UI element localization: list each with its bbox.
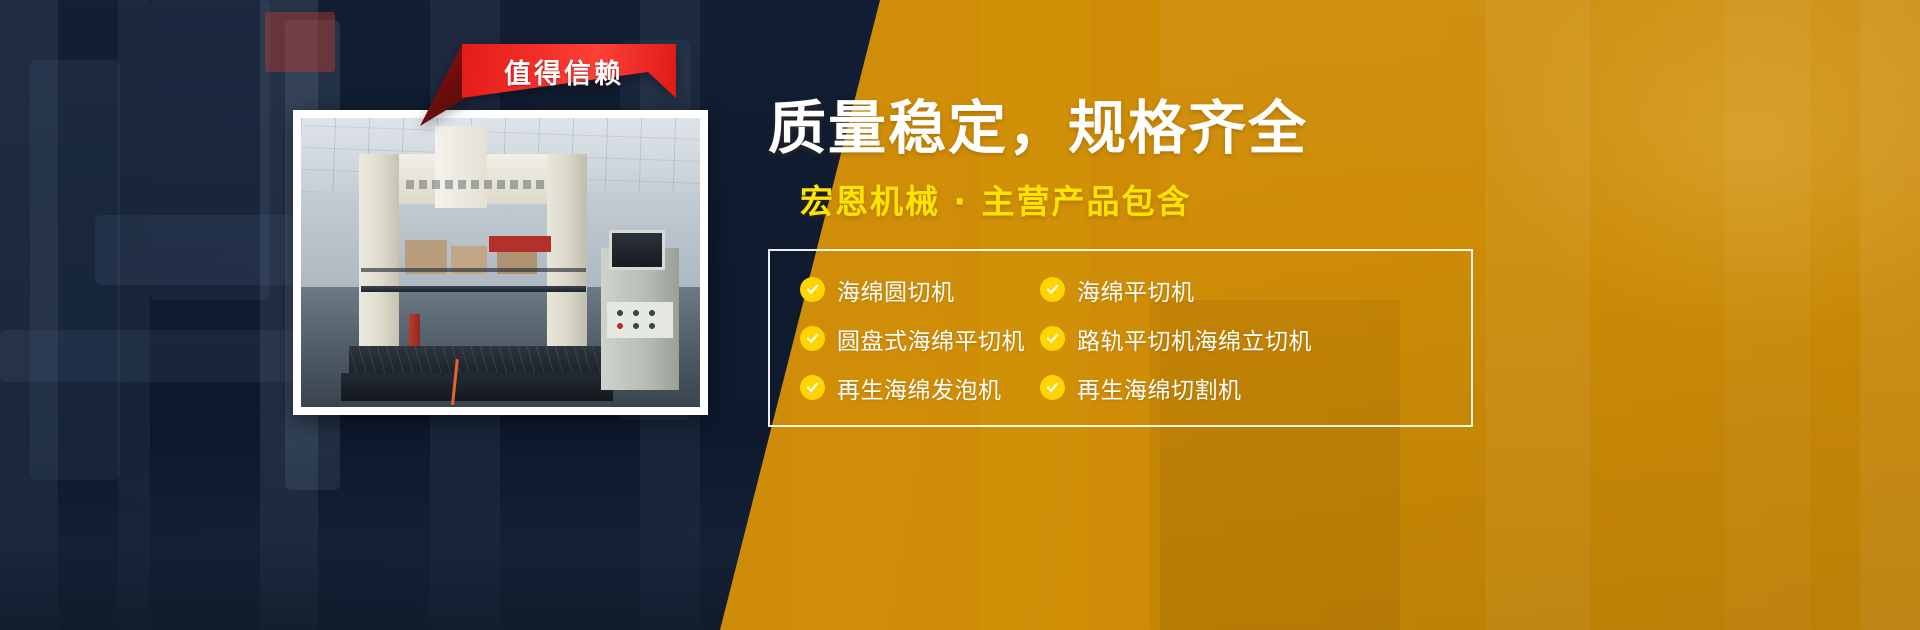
product-label: 路轨平切机海绵立切机 (1077, 322, 1312, 356)
photo-machine-blade (361, 286, 586, 292)
bg-machine-shape (0, 330, 300, 382)
gold-texture-streak (1485, 0, 1590, 630)
banner-subheading: 宏恩机械 · 主营产品包含 (800, 175, 1488, 223)
product-item[interactable]: 海绵圆切机 (800, 273, 1030, 307)
product-label: 再生海绵切割机 (1077, 371, 1242, 405)
check-circle-icon (1040, 326, 1065, 351)
photo-machine-rail (361, 268, 586, 272)
bg-machine-shape (95, 215, 305, 285)
product-item[interactable]: 圆盘式海绵平切机 (800, 322, 1030, 356)
product-label: 再生海绵发泡机 (837, 371, 1002, 405)
product-label: 海绵圆切机 (837, 273, 955, 307)
gold-texture-streak (1725, 0, 1810, 630)
product-item[interactable]: 再生海绵发泡机 (800, 371, 1030, 405)
photo-machine-base (341, 373, 613, 401)
product-label: 圆盘式海绵平切机 (837, 322, 1025, 356)
banner-content: 质量稳定，规格齐全 宏恩机械 · 主营产品包含 海绵圆切机 海绵平切机 (768, 96, 1488, 427)
product-item[interactable]: 路轨平切机海绵立切机 (1040, 322, 1441, 356)
photo-machine-nameplate (406, 180, 546, 189)
product-item[interactable]: 海绵平切机 (1040, 273, 1441, 307)
photo-control-buttons (607, 302, 673, 338)
product-label: 海绵平切机 (1077, 273, 1195, 307)
product-item[interactable]: 再生海绵切割机 (1040, 371, 1441, 405)
ribbon-label: 值得信赖 (462, 44, 676, 98)
photo-machine-post-right (547, 154, 587, 369)
check-circle-icon (800, 326, 825, 351)
product-list-box: 海绵圆切机 海绵平切机 圆盘式海绵平切机 (768, 249, 1473, 427)
photo-control-screen (609, 230, 665, 270)
photo-machine-column (435, 126, 487, 208)
product-list-grid: 海绵圆切机 海绵平切机 圆盘式海绵平切机 (800, 273, 1441, 405)
trust-ribbon: 值得信赖 (462, 44, 676, 98)
check-circle-icon (1040, 277, 1065, 302)
product-photo-card (293, 110, 708, 415)
product-photo (301, 118, 700, 407)
banner-headline: 质量稳定，规格齐全 (768, 96, 1488, 161)
photo-machine-red-panel (489, 236, 551, 252)
bg-red-accent (265, 12, 335, 72)
check-circle-icon (1040, 375, 1065, 400)
photo-machine-post-left (359, 154, 399, 369)
check-circle-icon (800, 277, 825, 302)
promo-banner: 值得信赖 质量稳定，规格齐全 (0, 0, 1920, 630)
gold-texture-streak (1860, 0, 1920, 630)
check-circle-icon (800, 375, 825, 400)
